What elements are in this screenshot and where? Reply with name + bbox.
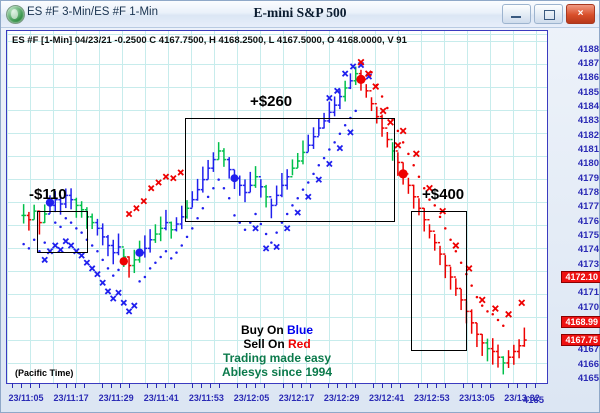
tagline-2: Ablesys since 1994 — [177, 365, 377, 379]
time-tick-label: 23/12:17 — [279, 393, 315, 403]
time-tick-mark — [481, 383, 482, 388]
close-button[interactable]: × — [566, 4, 595, 24]
time-tick-mark — [219, 383, 220, 388]
price-highlight: 4168.99 — [561, 316, 600, 328]
time-tick-mark — [84, 383, 85, 388]
time-tick-mark — [301, 383, 302, 388]
time-tick-mark — [373, 383, 374, 388]
window-controls: × — [502, 4, 595, 24]
price-tick: 4179 — [578, 174, 599, 184]
price-tick: 4173 — [578, 260, 599, 270]
time-tick-mark — [445, 383, 446, 388]
time-tick-mark — [210, 383, 211, 388]
time-axis: 4165 23/11:0523/11:1723/11:2923/11:4123/… — [6, 383, 546, 411]
time-tick-mark — [517, 383, 518, 388]
buy-on-label: Buy On — [241, 323, 287, 337]
time-tick-mark — [400, 383, 401, 388]
time-tick-mark — [147, 383, 148, 388]
time-tick-label: 23/11:05 — [8, 393, 43, 403]
time-tick-mark — [21, 383, 22, 388]
time-axis-line — [6, 383, 546, 384]
time-tick-mark — [201, 383, 202, 388]
time-tick-mark — [436, 383, 437, 388]
time-tick-mark — [427, 383, 428, 388]
time-tick-label: 23/11:29 — [99, 393, 134, 403]
time-tick-mark — [174, 383, 175, 388]
price-highlight: 4167.75 — [561, 334, 600, 346]
time-tick-label: 23/12:29 — [324, 393, 360, 403]
profit-label: +$260 — [250, 93, 292, 110]
time-tick-mark — [255, 383, 256, 388]
time-tick-mark — [39, 383, 40, 388]
time-tick-mark — [490, 383, 491, 388]
time-tick-mark — [472, 383, 473, 388]
promo-message: Buy On Blue Sell On Red Trading made eas… — [177, 323, 377, 379]
time-tick-mark — [246, 383, 247, 388]
profit-label: -$110 — [29, 186, 67, 203]
chart-canvas[interactable]: ES #F [1-Min] 04/23/21 -0.2500 C 4167.75… — [6, 30, 548, 384]
price-tick: 4167 — [578, 345, 599, 355]
price-tick: 4176 — [578, 217, 599, 227]
time-tick-mark — [165, 383, 166, 388]
time-tick-label: 23/13:05 — [459, 393, 495, 403]
timezone-note: (Pacific Time) — [15, 368, 73, 378]
price-axis[interactable]: 4188418741864185418441834182418141804179… — [547, 30, 600, 382]
profit-box — [411, 211, 467, 351]
time-tick-mark — [111, 383, 112, 388]
price-tick: 4165 — [578, 374, 599, 384]
price-tick: 4177 — [578, 202, 599, 212]
price-tick: 4175 — [578, 231, 599, 241]
time-tick-mark — [382, 383, 383, 388]
time-tick-mark — [535, 383, 536, 388]
price-tick: 4186 — [578, 73, 599, 83]
price-tick: 4182 — [578, 131, 599, 141]
time-tick-mark — [463, 383, 464, 388]
time-tick-mark — [346, 383, 347, 388]
time-tick-mark — [57, 383, 58, 388]
title-bar: ES #F 3-Min/ES #F 1-Min E-mini S&P 500 × — [1, 1, 599, 28]
time-tick-label: 23/12:53 — [414, 393, 450, 403]
time-tick-label: 23/12:05 — [234, 393, 270, 403]
price-tick: 4184 — [578, 102, 599, 112]
time-tick-mark — [264, 383, 265, 388]
time-tick-mark — [337, 383, 338, 388]
time-tick-label: 23/11:53 — [189, 393, 224, 403]
chart-window: ES #F 3-Min/ES #F 1-Min E-mini S&P 500 ×… — [0, 0, 600, 413]
time-tick-mark — [508, 383, 509, 388]
time-tick-mark — [102, 383, 103, 388]
price-tick: 4180 — [578, 159, 599, 169]
time-tick-mark — [418, 383, 419, 388]
profit-box — [185, 118, 395, 222]
sell-on-label: Sell On — [243, 337, 288, 351]
buy-color-word: Blue — [287, 323, 313, 337]
time-tick-mark — [75, 383, 76, 388]
sell-color-word: Red — [288, 337, 311, 351]
time-tick-mark — [328, 383, 329, 388]
time-tick-label: 23/12:41 — [369, 393, 405, 403]
time-tick-label: 23/11:17 — [54, 393, 89, 403]
profit-box — [37, 211, 88, 253]
price-tick: 4185 — [578, 88, 599, 98]
time-tick-label: 23/11:41 — [144, 393, 179, 403]
time-tick-mark — [12, 383, 13, 388]
time-tick-mark — [310, 383, 311, 388]
price-tick: 4183 — [578, 116, 599, 126]
time-tick-mark — [237, 383, 238, 388]
time-tick-mark — [156, 383, 157, 388]
close-icon: × — [578, 9, 584, 19]
profit-label: +$400 — [422, 186, 464, 203]
price-tick: 4174 — [578, 245, 599, 255]
time-tick-mark — [355, 383, 356, 388]
price-tick: 4166 — [578, 360, 599, 370]
time-tick-mark — [120, 383, 121, 388]
tagline-1: Trading made easy — [177, 351, 377, 365]
time-tick-label: 23/13:32 — [504, 393, 540, 403]
price-tick: 4187 — [578, 59, 599, 69]
time-tick-mark — [283, 383, 284, 388]
minimize-button[interactable] — [502, 4, 531, 24]
time-tick-mark — [292, 383, 293, 388]
time-tick-mark — [66, 383, 67, 388]
price-tick: 4188 — [578, 45, 599, 55]
maximize-button[interactable] — [534, 4, 563, 24]
time-tick-mark — [192, 383, 193, 388]
time-tick-mark — [391, 383, 392, 388]
time-tick-mark — [30, 383, 31, 388]
price-tick: 4171 — [578, 288, 599, 298]
time-tick-mark — [526, 383, 527, 388]
price-tick: 4181 — [578, 145, 599, 155]
price-highlight: 4172.10 — [561, 271, 600, 283]
price-tick: 4178 — [578, 188, 599, 198]
price-tick: 4170 — [578, 303, 599, 313]
time-tick-mark — [129, 383, 130, 388]
